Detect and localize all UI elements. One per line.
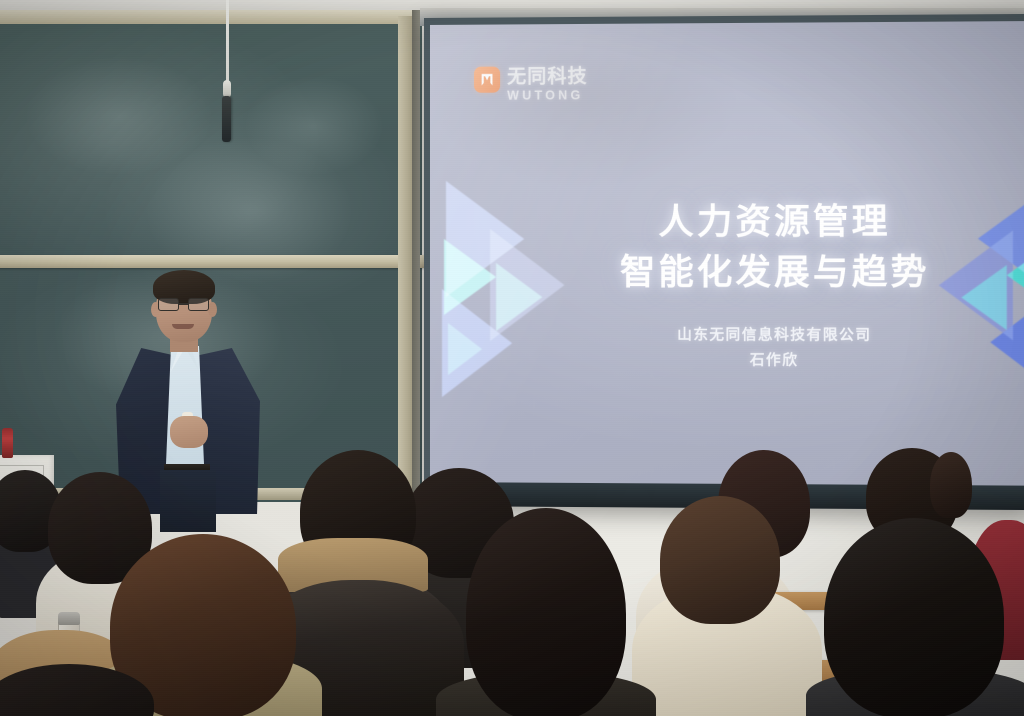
lecture-room-photo: 无同科技 WUTONG 人力资源管理 智能化发展与趋势 山东无同信息科技有限公司… xyxy=(0,0,1024,716)
slide-title: 人力资源管理 智能化发展与趋势 xyxy=(430,198,1024,299)
speaker-mouth xyxy=(172,324,194,329)
glasses-bridge xyxy=(179,303,188,305)
chalkboard-right-frame xyxy=(398,16,412,502)
speaker-glasses xyxy=(158,298,210,311)
glasses-lens-left xyxy=(158,298,179,311)
chalk-tray xyxy=(0,255,424,268)
speaker-trousers xyxy=(160,470,216,532)
chalkboard-top-frame xyxy=(0,10,426,24)
person-long-hair-2 xyxy=(466,508,626,716)
slide-logo: 无同科技 WUTONG xyxy=(474,66,588,102)
pull-cord[interactable] xyxy=(226,0,229,88)
chalkboard-edge-shadow xyxy=(412,10,420,506)
person-dark-head-right xyxy=(824,518,1004,716)
person-ponytail-cream-hair xyxy=(660,496,780,624)
chalk-smudge xyxy=(24,56,214,176)
glasses-lens-right xyxy=(188,298,209,311)
slide-presenter-name: 石作欣 xyxy=(522,349,1024,376)
red-bottle xyxy=(2,428,13,458)
logo-latin-text: WUTONG xyxy=(507,89,587,102)
chalk-smudge xyxy=(244,76,384,176)
logo-chinese-text: 无同科技 xyxy=(507,67,587,86)
slide-surface: 无同科技 WUTONG 人力资源管理 智能化发展与趋势 山东无同信息科技有限公司… xyxy=(430,21,1024,486)
pull-cord-handle[interactable] xyxy=(222,96,231,142)
slide-subtitle: 山东无同信息科技有限公司 石作欣 xyxy=(430,323,1024,376)
water-bottle-cap xyxy=(58,612,80,625)
ponytail-tail xyxy=(930,452,972,518)
logo-wordmark: 无同科技 WUTONG xyxy=(507,66,587,102)
slide-company-name: 山东无同信息科技有限公司 xyxy=(522,323,1024,350)
wutong-logo-icon xyxy=(474,67,500,93)
projection-screen: 无同科技 WUTONG 人力资源管理 智能化发展与趋势 山东无同信息科技有限公司… xyxy=(424,14,1024,510)
speaker-hands xyxy=(170,416,208,448)
slide-title-line-2: 智能化发展与趋势 xyxy=(522,248,1024,299)
slide-title-line-1: 人力资源管理 xyxy=(522,198,1024,249)
